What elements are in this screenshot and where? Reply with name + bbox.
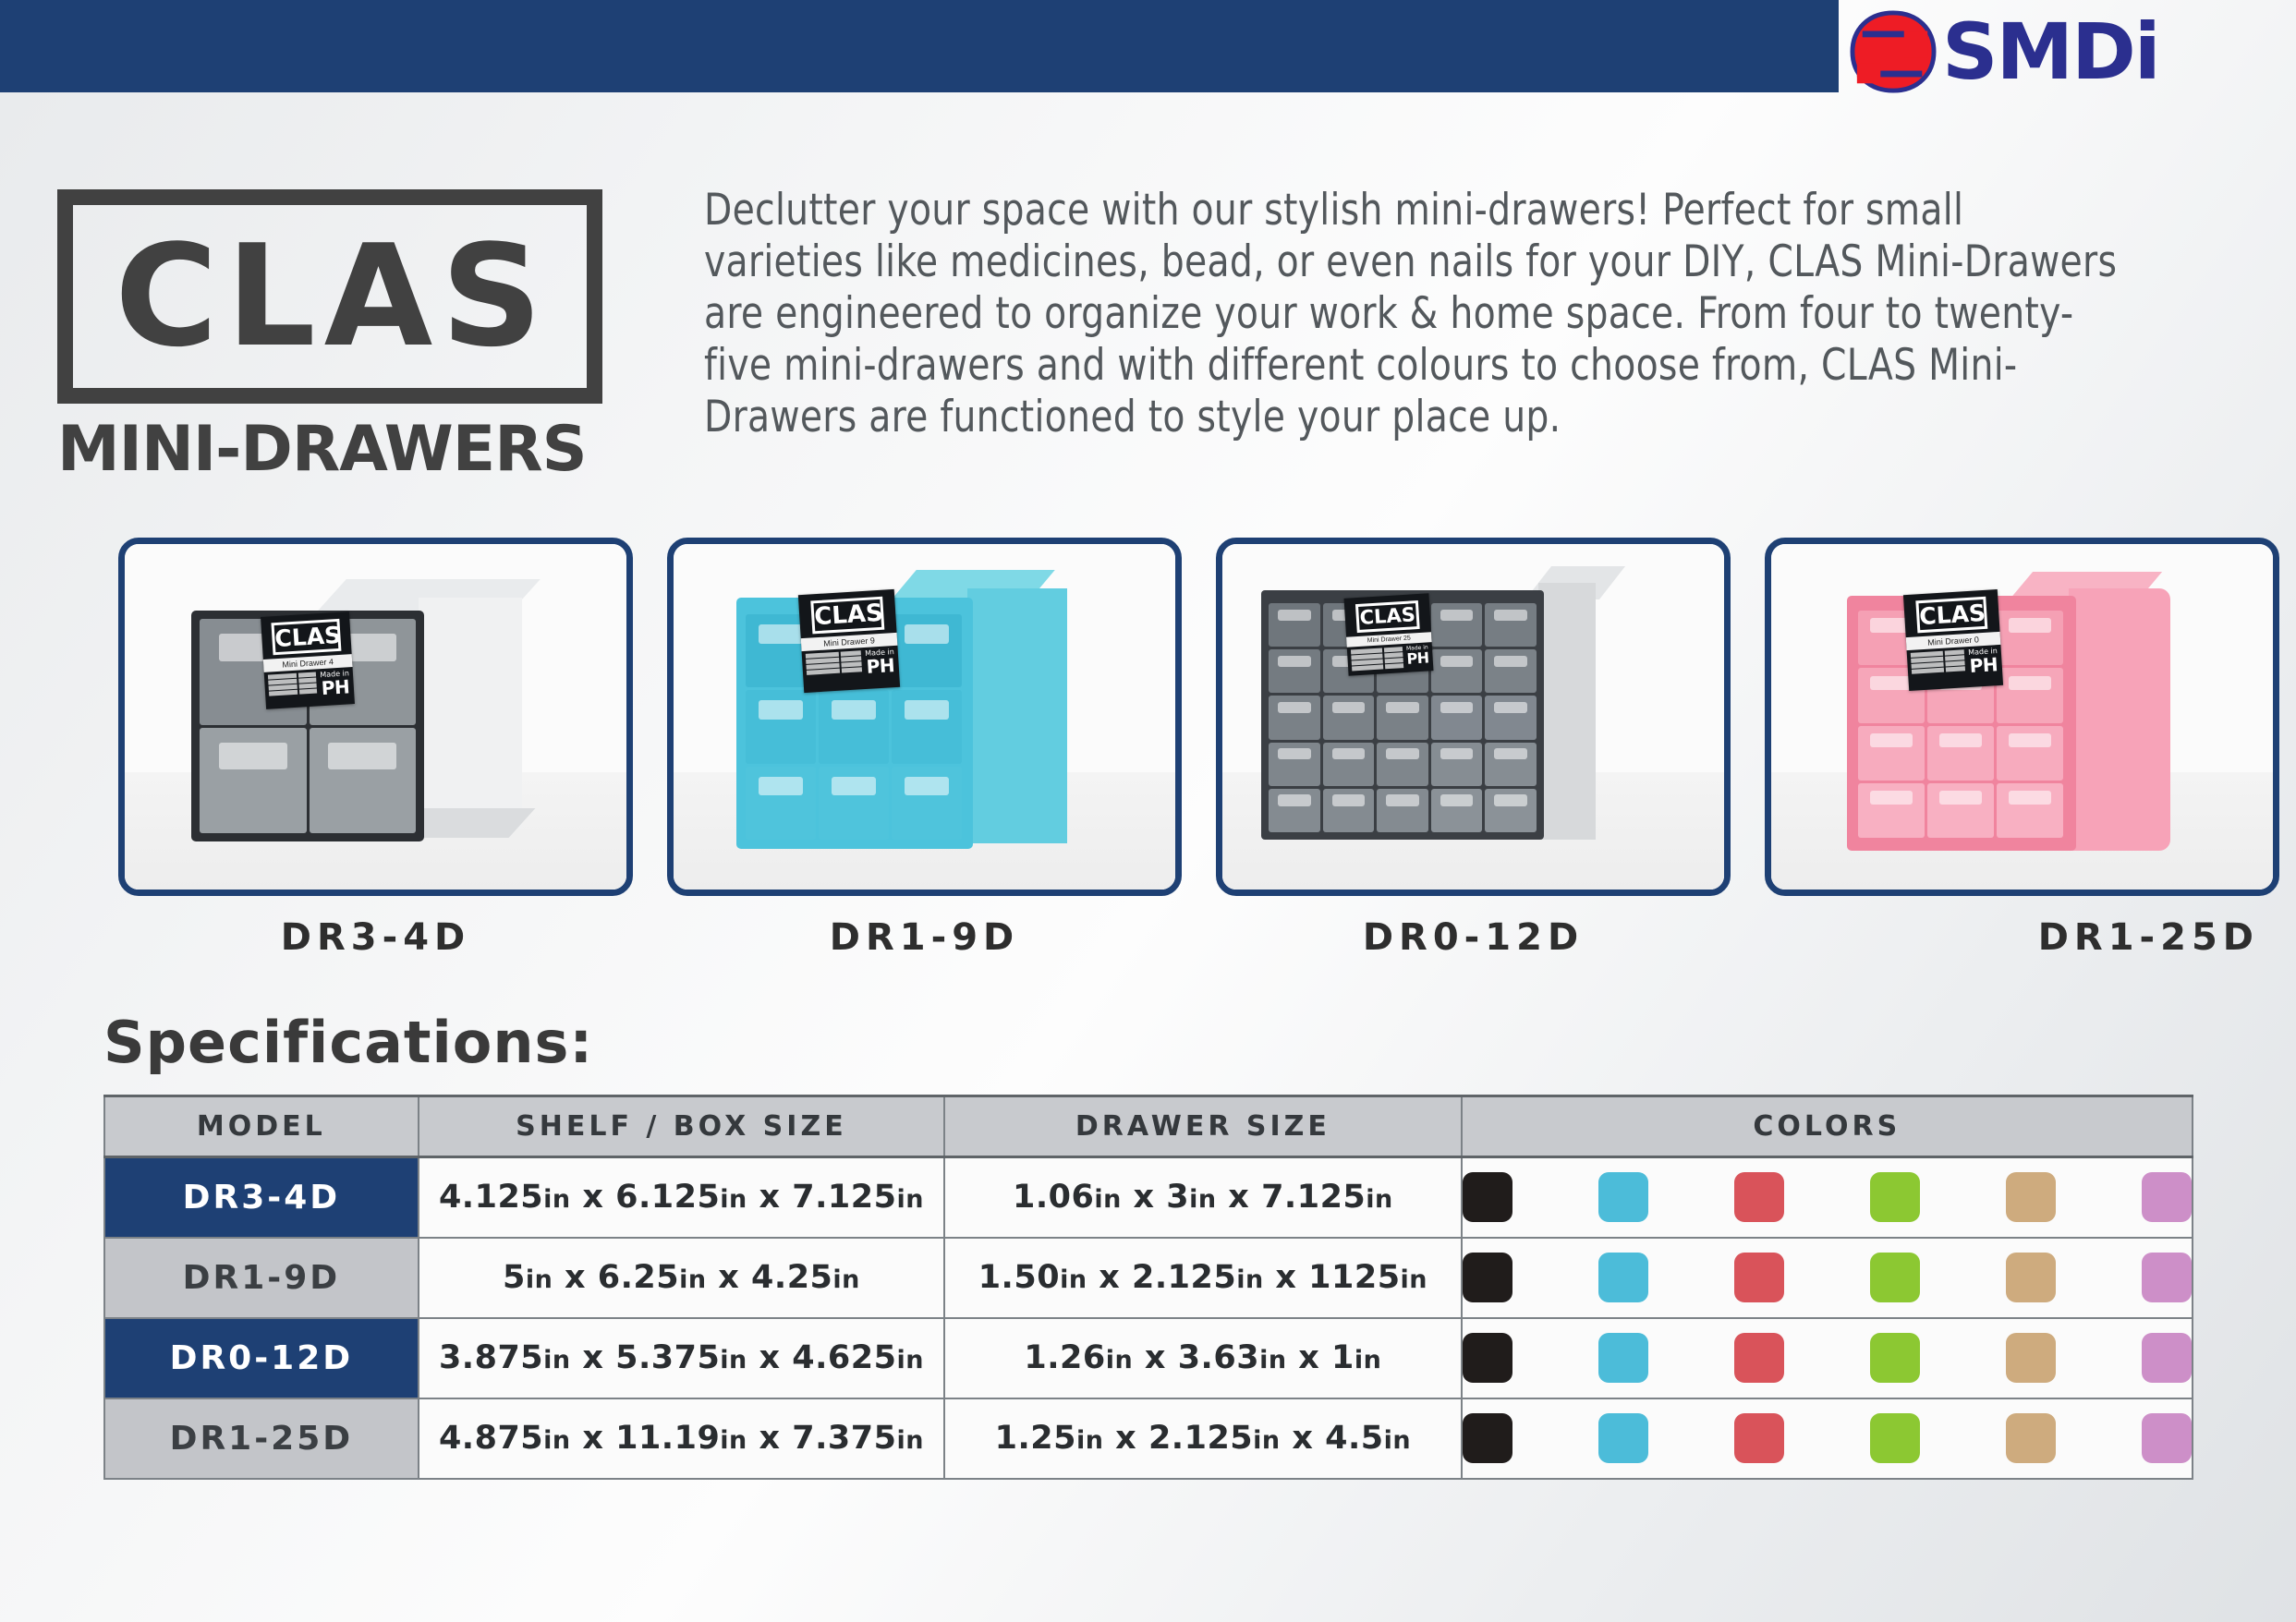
table-row: DR1-25D 4.875in x 11.19in x 7.375in 1.25… (104, 1398, 2193, 1479)
color-swatch-orchid[interactable] (2142, 1172, 2192, 1222)
product-photo-dr1-25d: CLAS Mini Drawer 0 Made in PH (1771, 544, 2273, 890)
product-card-dr1-25d[interactable]: CLAS Mini Drawer 0 Made in PH (1765, 538, 2279, 962)
product-description: Declutter your space with our stylish mi… (704, 185, 2131, 443)
column-header-model: MODEL (104, 1096, 419, 1157)
cell-colors (1462, 1398, 2193, 1479)
page-header: SMDi (0, 0, 2296, 103)
color-swatch-red[interactable] (1734, 1333, 1784, 1383)
color-swatch-black[interactable] (1463, 1333, 1512, 1383)
clas-logo-word: CLAS (115, 226, 551, 367)
table-row: DR3-4D 4.125in x 6.125in x 7.125in 1.06i… (104, 1157, 2193, 1238)
product-image-frame: CLAS Mini Drawer 4 Made in PH (118, 538, 633, 896)
table-row: DR0-12D 3.875in x 5.375in x 4.625in 1.26… (104, 1318, 2193, 1398)
color-swatch-green[interactable] (1870, 1172, 1920, 1222)
color-swatch-red[interactable] (1734, 1172, 1784, 1222)
color-swatch-tan[interactable] (2006, 1253, 2056, 1302)
color-swatch-red[interactable] (1734, 1253, 1784, 1302)
photo-sticker-country: PH (1968, 655, 1998, 675)
color-swatch-cyan[interactable] (1598, 1253, 1648, 1302)
cell-model: DR1-25D (104, 1398, 419, 1479)
cell-drawer-size: 1.26in x 3.63in x 1in (944, 1318, 1461, 1398)
product-image-frame: CLAS Mini Drawer 9 Made in PH (667, 538, 1182, 896)
cell-shelf-size: 4.125in x 6.125in x 7.125in (419, 1157, 944, 1238)
photo-sticker-country: PH (321, 677, 351, 697)
product-gallery: CLAS Mini Drawer 4 Made in PH (118, 538, 2243, 962)
cell-colors (1462, 1318, 2193, 1398)
photo-sticker-logo: CLAS (1915, 597, 1987, 634)
color-swatch-green[interactable] (1870, 1413, 1920, 1463)
cell-shelf-size: 5in x 6.25in x 4.25in (419, 1238, 944, 1318)
cell-drawer-size: 1.50in x 2.125in x 1125in (944, 1238, 1461, 1318)
header-navy-bar (0, 0, 1839, 92)
cell-shelf-size: 3.875in x 5.375in x 4.625in (419, 1318, 944, 1398)
color-swatch-green[interactable] (1870, 1333, 1920, 1383)
color-swatch-orchid[interactable] (2142, 1413, 2192, 1463)
product-label-dr1-9d: DR1-9D (667, 916, 1182, 959)
color-swatch-tan[interactable] (2006, 1172, 2056, 1222)
color-swatch-cyan[interactable] (1598, 1333, 1648, 1383)
photo-sticker-logo: CLAS (271, 619, 341, 655)
product-card-dr0-12d[interactable]: CLAS Mini Drawer 25 Made in PH (1216, 538, 1731, 962)
color-swatch-cyan[interactable] (1598, 1413, 1648, 1463)
cell-drawer-size: 1.25in x 2.125in x 4.5in (944, 1398, 1461, 1479)
smdi-lens-icon (1848, 9, 1938, 94)
cell-colors (1462, 1238, 2193, 1318)
product-image-frame: CLAS Mini Drawer 25 Made in PH (1216, 538, 1731, 896)
product-card-dr1-9d[interactable]: CLAS Mini Drawer 9 Made in PH (667, 538, 1182, 962)
color-swatch-tan[interactable] (2006, 1333, 2056, 1383)
cell-model: DR0-12D (104, 1318, 419, 1398)
brand-logo-smdi: SMDi (1848, 0, 2296, 103)
specifications-heading: Specifications: (103, 1009, 593, 1076)
cell-model: DR3-4D (104, 1157, 419, 1238)
product-label-dr3-4d: DR3-4D (118, 916, 633, 959)
color-swatch-red[interactable] (1734, 1413, 1784, 1463)
color-swatch-black[interactable] (1463, 1253, 1512, 1302)
color-swatch-group (1463, 1413, 2192, 1463)
product-photo-dr0-12d: CLAS Mini Drawer 25 Made in PH (1222, 544, 1724, 890)
color-swatch-orchid[interactable] (2142, 1253, 2192, 1302)
photo-sticker-country: PH (1406, 650, 1429, 666)
color-swatch-group (1463, 1333, 2192, 1383)
color-swatch-cyan[interactable] (1598, 1172, 1648, 1222)
clas-logo-box: CLAS (57, 189, 602, 404)
color-swatch-green[interactable] (1870, 1253, 1920, 1302)
color-swatch-group (1463, 1253, 2192, 1302)
product-card-dr3-4d[interactable]: CLAS Mini Drawer 4 Made in PH (118, 538, 633, 962)
cell-colors (1462, 1157, 2193, 1238)
photo-sticker-country: PH (865, 656, 895, 676)
color-swatch-tan[interactable] (2006, 1413, 2056, 1463)
column-header-drawer: DRAWER SIZE (944, 1096, 1461, 1157)
column-header-colors: COLORS (1462, 1096, 2193, 1157)
product-label-dr0-12d: DR0-12D (1216, 916, 1731, 959)
table-row: DR1-9D 5in x 6.25in x 4.25in 1.50in x 2.… (104, 1238, 2193, 1318)
color-swatch-orchid[interactable] (2142, 1333, 2192, 1383)
table-header-row: MODEL SHELF / BOX SIZE DRAWER SIZE COLOR… (104, 1096, 2193, 1157)
clas-brand-block: CLAS MINI-DRAWERS (57, 189, 630, 481)
cell-drawer-size: 1.06in x 3in x 7.125in (944, 1157, 1461, 1238)
color-swatch-group (1463, 1172, 2192, 1222)
smdi-wordmark: SMDi (1942, 13, 2159, 91)
photo-sticker-logo: CLAS (1355, 600, 1420, 633)
product-photo-dr3-4d: CLAS Mini Drawer 4 Made in PH (125, 544, 626, 890)
product-label-dr1-25d: DR1-25D (1765, 916, 2279, 959)
color-swatch-black[interactable] (1463, 1413, 1512, 1463)
product-photo-dr1-9d: CLAS Mini Drawer 9 Made in PH (674, 544, 1175, 890)
clas-subtitle: MINI-DRAWERS (57, 418, 630, 481)
cell-shelf-size: 4.875in x 11.19in x 7.375in (419, 1398, 944, 1479)
product-image-frame: CLAS Mini Drawer 0 Made in PH (1765, 538, 2279, 896)
photo-sticker-logo: CLAS (810, 597, 884, 635)
cell-model: DR1-9D (104, 1238, 419, 1318)
color-swatch-black[interactable] (1463, 1172, 1512, 1222)
column-header-shelf: SHELF / BOX SIZE (419, 1096, 944, 1157)
specifications-table: MODEL SHELF / BOX SIZE DRAWER SIZE COLOR… (103, 1095, 2193, 1480)
